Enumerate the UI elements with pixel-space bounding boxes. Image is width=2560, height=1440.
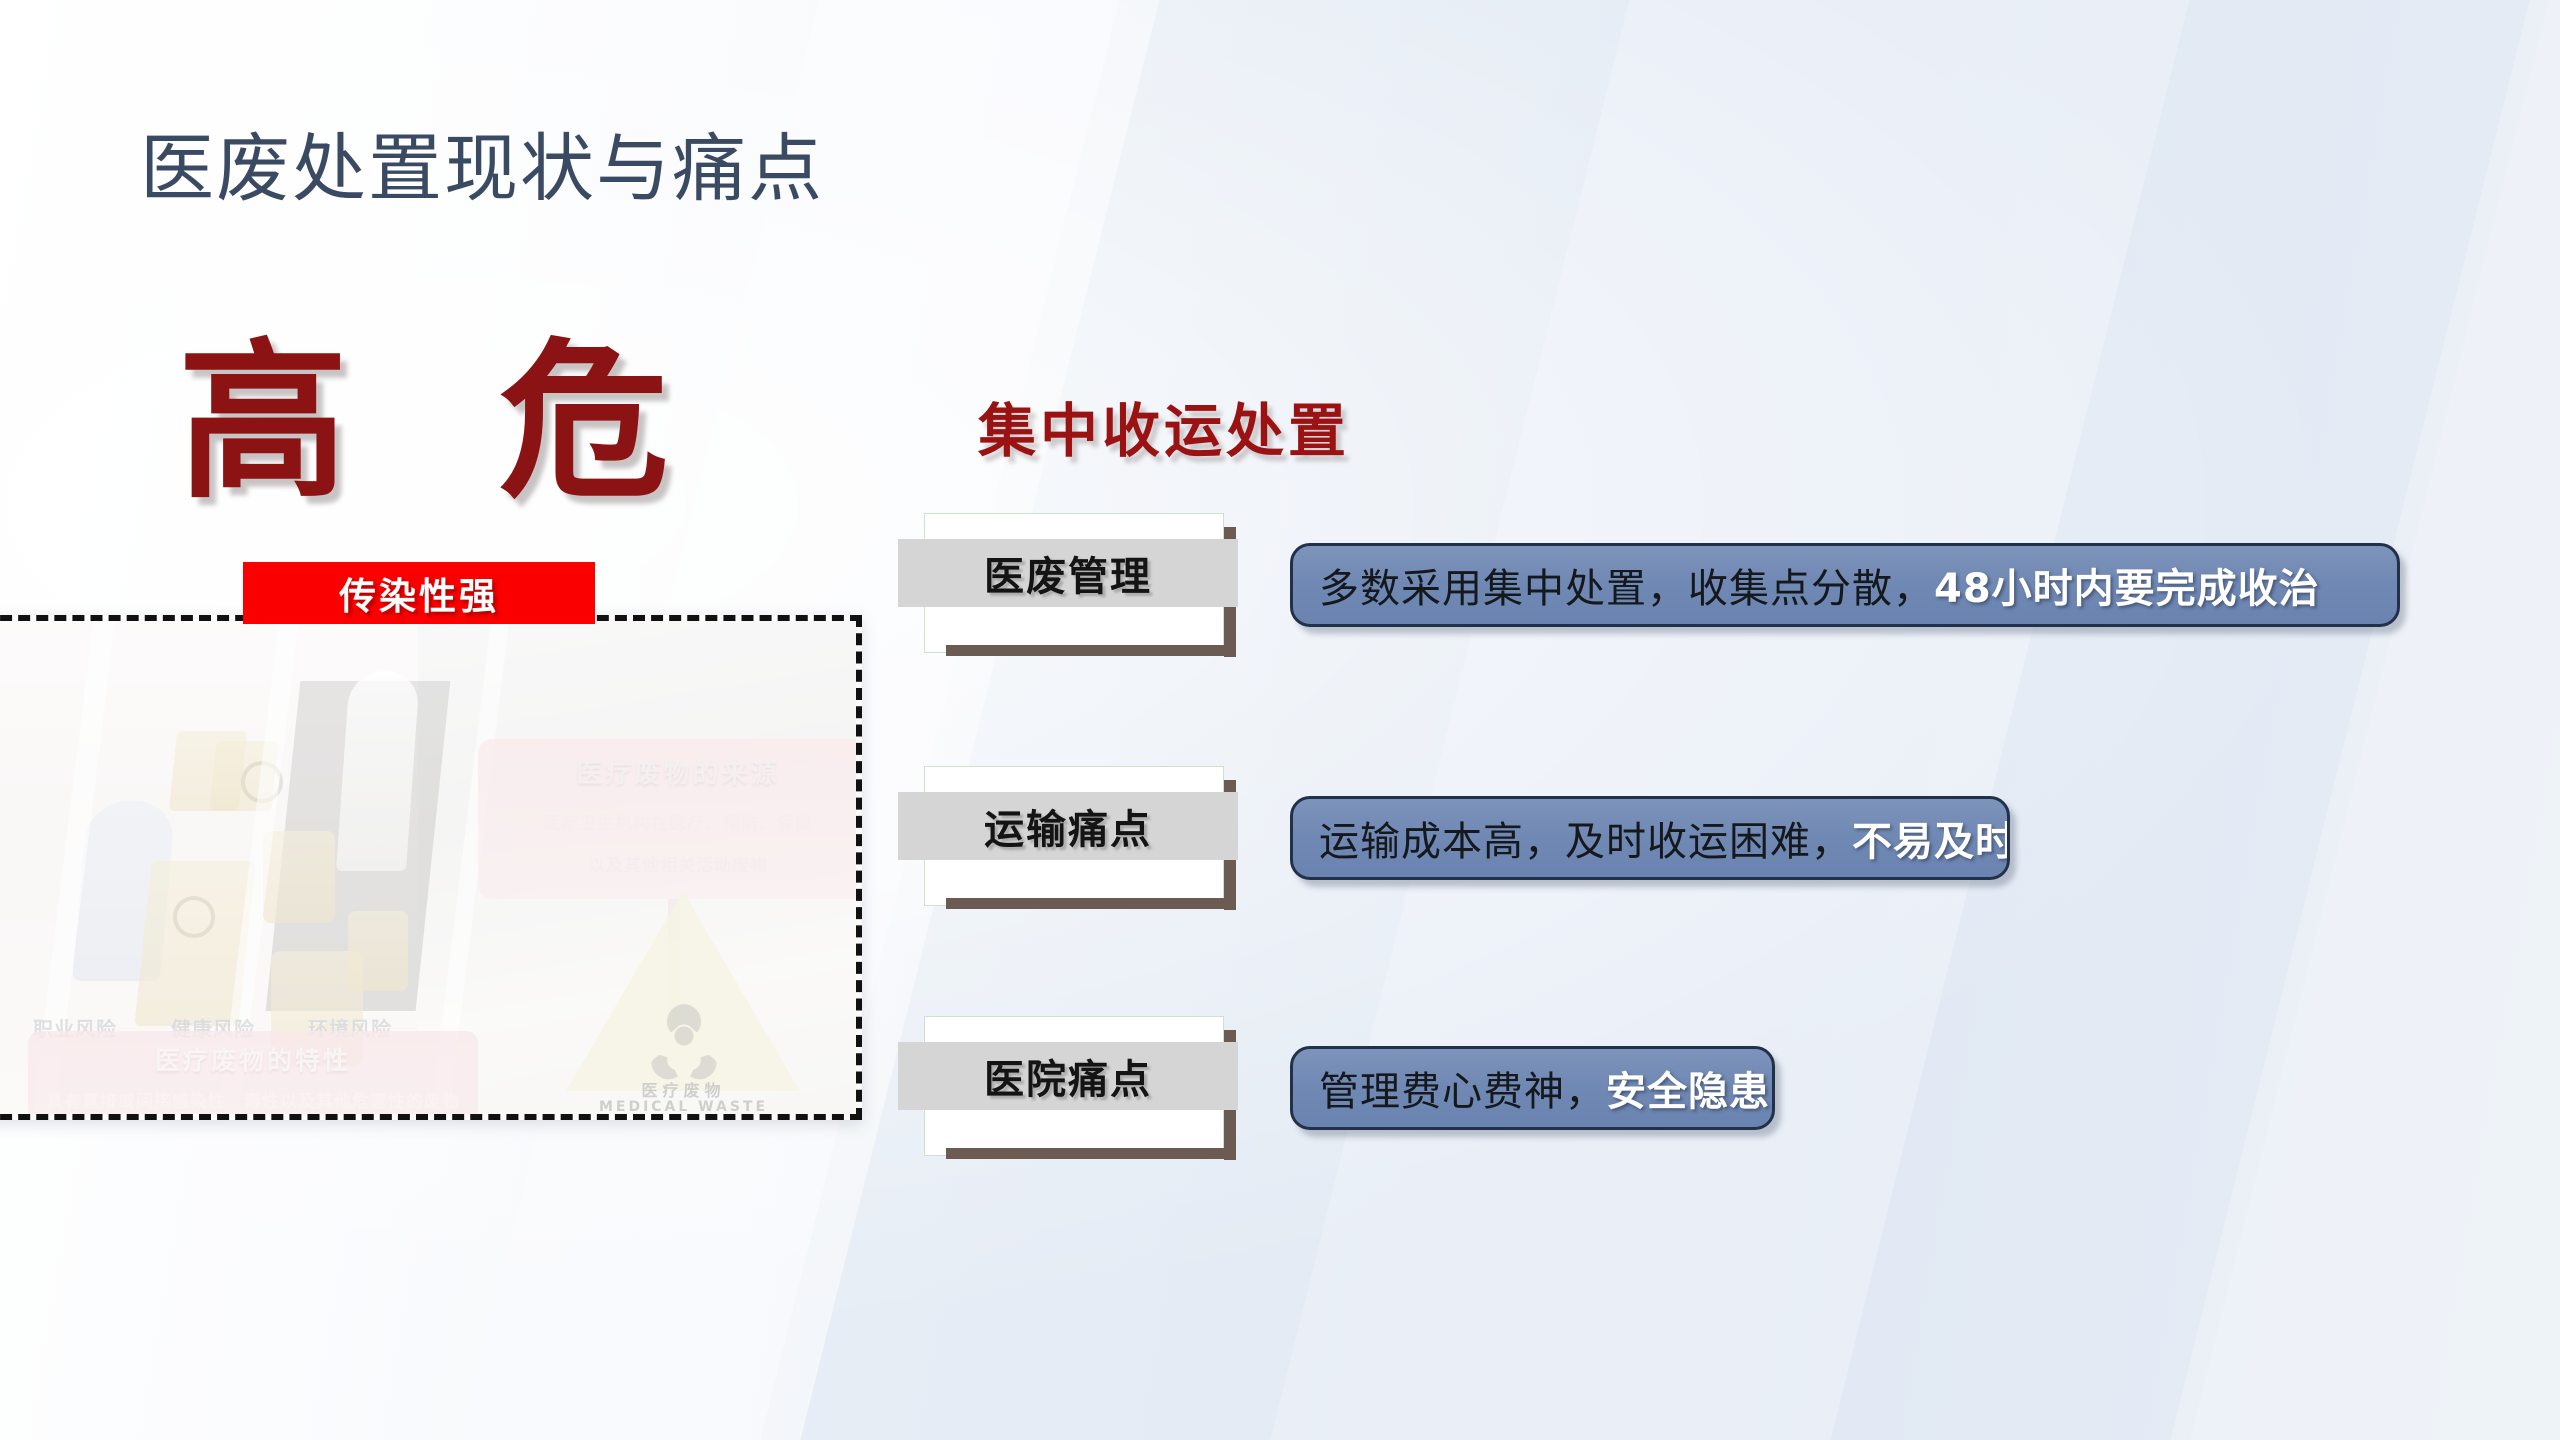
pill-text-plain: 运输成本高，及时收运困难， [1319,809,1852,867]
label-card-shadow-right [1224,1030,1236,1160]
page-title: 医废处置现状与痛点 [140,132,824,206]
pain-point-pill: 运输成本高，及时收运困难，不易及时 [1290,796,2010,880]
background-band [731,0,1700,1440]
slide-canvas: 医废处置现状与痛点 高 危 传染性强 职业风险 健康风险 环境风险 [0,0,2560,1440]
label-card-shadow-bottom [946,645,1236,656]
pill-text-highlight: 48小时内要完成收治 [1934,556,2320,614]
pill-text-plain: 多数采用集中处置，收集点分散， [1319,556,1934,614]
background-band [2101,0,2560,1440]
background-band [1761,0,2560,1440]
pain-point-row: 医院痛点 管理费心费神，安全隐患 [0,1008,2560,1188]
background-band [1201,0,2260,1440]
label-card-shadow-right [1224,780,1236,910]
label-card-transport-pain: 运输痛点 [916,758,1246,918]
label-card-paper [924,766,1224,906]
label-card-hospital-pain: 医院痛点 [916,1008,1246,1168]
pill-text-highlight: 安全隐患 [1606,1059,1770,1117]
label-card-shadow-bottom [946,898,1236,909]
pain-point-pill: 多数采用集中处置，收集点分散，48小时内要完成收治 [1290,543,2400,627]
section-heading: 集中收运处置 [978,384,1350,468]
label-card-paper [924,513,1224,653]
label-card-paper [924,1016,1224,1156]
pill-text-plain: 管理费心费神， [1319,1059,1606,1117]
label-card-shadow-bottom [946,1148,1236,1159]
pill-text-highlight: 不易及时 [1852,809,2010,867]
label-card-medical-waste-management: 医废管理 [916,505,1246,665]
infectious-banner: 传染性强 [243,562,595,624]
label-card-shadow-right [1224,527,1236,657]
pain-point-pill: 管理费心费神，安全隐患 [1290,1046,1775,1130]
hero-danger-text: 高 危 [178,338,715,508]
pain-point-row: 运输痛点 运输成本高，及时收运困难，不易及时 [0,758,2560,938]
